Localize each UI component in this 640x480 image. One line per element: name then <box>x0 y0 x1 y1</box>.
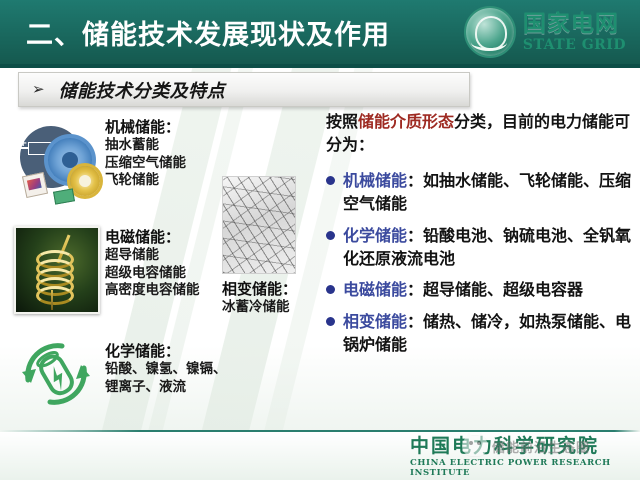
category-title: 电磁储能： <box>105 228 200 247</box>
right-column: 按照储能介质形态分类，目前的电力储能可分为： 机械储能：如抽水储能、飞轮储能、压… <box>326 110 634 365</box>
bullet-separator: ： <box>407 312 423 331</box>
slide-header: 二、储能技术发展现状及作用 国家电网 STATE GRID <box>0 0 640 64</box>
category-phase-change: 相变储能： 冰蓄冷储能 <box>222 280 297 317</box>
bullet-term: 相变储能 <box>343 312 407 331</box>
arrow-bullet-icon: ➢ <box>32 82 45 97</box>
watermark: 储能前沿生态圈 <box>462 436 590 456</box>
list-item: 机械储能：如抽水储能、飞轮储能、压缩空气储能 <box>326 170 634 215</box>
bullet-term: 电磁储能 <box>343 280 407 299</box>
bullet-term: 化学储能 <box>343 226 407 245</box>
state-grid-globe-icon <box>464 6 516 58</box>
intro-highlight: 储能介质形态 <box>358 112 454 131</box>
list-item: 电磁储能：超导储能、超级电容器 <box>326 279 634 302</box>
intro-paragraph: 按照储能介质形态分类，目前的电力储能可分为： <box>326 110 634 156</box>
watermark-text: 储能前沿生态圈 <box>492 437 590 456</box>
chemical-battery-recycle-icon <box>10 330 102 422</box>
state-grid-logo-cn: 国家电网 <box>523 13 626 36</box>
state-grid-logo-text: 国家电网 STATE GRID <box>523 13 626 52</box>
state-grid-logo: 国家电网 STATE GRID <box>464 6 626 58</box>
category-line: 锂离子、液流 <box>105 379 227 397</box>
category-line: 超级电容储能 <box>105 265 200 283</box>
bullet-list: 机械储能：如抽水储能、飞轮储能、压缩空气储能 化学储能：铅酸电池、钠硫电池、全钒… <box>326 170 634 356</box>
bullet-text: 超导储能、超级电容器 <box>423 280 583 299</box>
category-electromagnetic: 电磁储能： 超导储能 超级电容储能 高密度电容储能 <box>105 228 200 300</box>
section-subtitle-text: 储能技术分类及特点 <box>59 77 226 103</box>
cepri-name-en: CHINA ELECTRIC POWER RESEARCH INSTITUTE <box>410 458 640 478</box>
list-item: 相变储能：储热、储冷，如热泵储能、电锅炉储能 <box>326 311 634 356</box>
bullet-term: 机械储能 <box>343 171 407 190</box>
bullet-dot-icon <box>326 317 335 326</box>
category-line: 压缩空气储能 <box>105 155 186 173</box>
bullet-dot-icon <box>326 231 335 240</box>
list-item: 化学储能：铅酸电池、钠硫电池、全钒氧化还原液流电池 <box>326 225 634 270</box>
category-title: 机械储能： <box>105 118 186 137</box>
category-line: 铅酸、镍氢、镍镉、 <box>105 361 227 379</box>
bullet-dot-icon <box>326 285 335 294</box>
header-stripe <box>0 64 640 68</box>
category-line: 冰蓄冷储能 <box>222 299 297 317</box>
bullet-separator: ： <box>407 226 423 245</box>
state-grid-logo-en: STATE GRID <box>523 38 626 52</box>
page-title: 二、储能技术发展现状及作用 <box>26 13 390 52</box>
category-line: 抽水蓄能 <box>105 137 186 155</box>
bullet-separator: ： <box>407 280 423 299</box>
category-line: 飞轮储能 <box>105 172 186 190</box>
left-column: + <box>0 108 320 438</box>
cat-face-watermark-icon <box>462 436 488 456</box>
category-chemical: 化学储能： 铅酸、镍氢、镍镉、 锂离子、液流 <box>105 342 227 396</box>
ice-crystal-photo <box>222 176 296 274</box>
category-line: 高密度电容储能 <box>105 282 200 300</box>
superconducting-coil-photo <box>14 226 100 314</box>
bullet-separator: ： <box>407 171 423 190</box>
mechanical-storage-icon: + <box>8 116 100 202</box>
footer-divider <box>0 430 640 432</box>
intro-pre: 按照 <box>326 112 358 131</box>
slide-canvas: 二、储能技术发展现状及作用 国家电网 STATE GRID ➢ 储能技术分类及特… <box>0 0 640 480</box>
section-subtitle-bar: ➢ 储能技术分类及特点 <box>18 72 470 107</box>
bullet-dot-icon <box>326 176 335 185</box>
category-mechanical: 机械储能： 抽水蓄能 压缩空气储能 飞轮储能 <box>105 118 186 190</box>
category-title: 化学储能： <box>105 342 227 361</box>
category-title: 相变储能： <box>222 280 297 299</box>
category-line: 超导储能 <box>105 247 200 265</box>
